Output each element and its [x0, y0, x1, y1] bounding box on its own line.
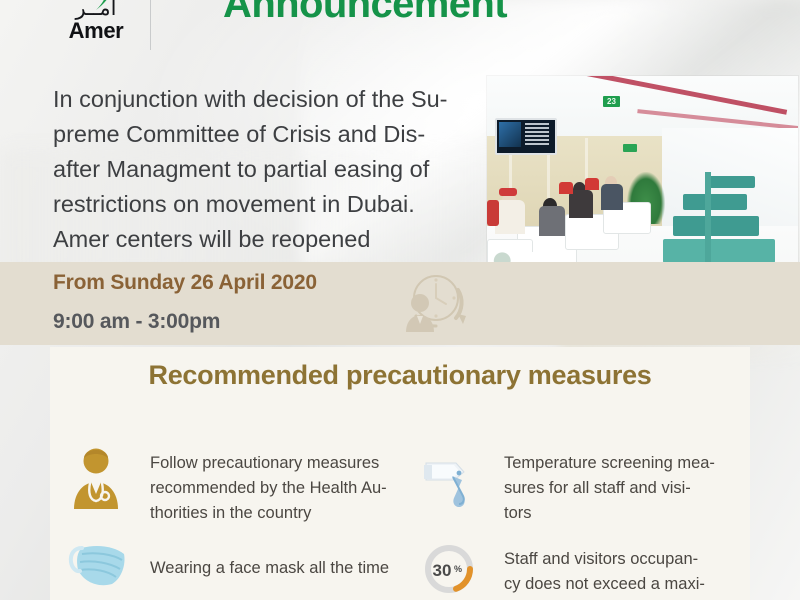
intro-line: In conjunction with decision of the Su- [53, 82, 483, 117]
photo-person-body [601, 184, 623, 210]
measure-line: Staff and visitors occupan- [504, 547, 705, 572]
measure-item: Wearing a face mask all the time [72, 542, 412, 600]
photo-person-body [569, 190, 593, 218]
photo-person-headwear [499, 188, 517, 196]
photo-desk [709, 176, 755, 188]
photo-desk-divider [705, 172, 711, 264]
measure-line: thorities in the country [150, 501, 387, 526]
poster-header: آمــر Amer Announcement [0, 0, 800, 62]
photo-person-body [539, 206, 565, 236]
page-title: Announcement [150, 0, 580, 24]
photo-exit-sign [623, 144, 637, 152]
schedule-date: From Sunday 26 April 2020 [53, 271, 317, 295]
photo-counter-sign: 23 [603, 96, 620, 107]
measure-line: Temperature screening mea- [504, 451, 715, 476]
occupancy-gauge-icon: 30 % [420, 542, 482, 600]
precautionary-measures-panel: Recommended precautionary measures Follo… [50, 347, 750, 600]
amer-logo-arabic: آمــر [48, 0, 144, 19]
photo-person-body [495, 200, 525, 234]
measure-line: cy does not exceed a maxi- [504, 572, 705, 597]
amer-logo: آمــر Amer [48, 0, 144, 54]
photo-red-chair [585, 178, 599, 190]
measure-line: Follow precautionary measures [150, 451, 387, 476]
schedule-hours: 9:00 am - 3:00pm [53, 310, 220, 334]
measure-line: sures for all staff and visi- [504, 476, 715, 501]
photo-desk [663, 239, 775, 263]
announcement-poster: آمــر Amer Announcement In conjunction w… [0, 0, 800, 600]
measure-item: Follow precautionary measures recommende… [72, 447, 412, 542]
face-mask-icon [68, 540, 130, 592]
measure-text: Staff and visitors occupan- cy does not … [504, 547, 705, 597]
photo-display-image [499, 122, 521, 147]
measure-line: recommended by the Health Au- [150, 476, 387, 501]
occupancy-unit: % [454, 564, 462, 574]
photo-desk [683, 194, 747, 210]
photo-desk [673, 216, 759, 236]
intro-line: after Managment to partial easing of [53, 152, 483, 187]
measure-item: 30 % Staff and visitors occupan- cy does… [420, 542, 750, 600]
photo-display-text [525, 123, 549, 146]
measure-text: Follow precautionary measures recommende… [150, 451, 387, 526]
measure-item: Temperature screening mea- sures for all… [420, 447, 750, 542]
person-with-clock-icon [400, 270, 470, 334]
amer-logo-latin: Amer [48, 20, 144, 42]
measure-text: Temperature screening mea- sures for all… [504, 451, 715, 526]
doctor-stethoscope-icon [72, 447, 120, 509]
measure-line: tors [504, 501, 715, 526]
intro-line: restrictions on movement in Dubai. [53, 187, 483, 222]
measure-text: Wearing a face mask all the time [150, 556, 389, 581]
announcement-body-text: In conjunction with decision of the Su- … [53, 82, 483, 257]
photo-red-chair [487, 200, 499, 226]
intro-line: Amer centers will be reopened [53, 222, 483, 257]
measure-line: Wearing a face mask all the time [150, 556, 389, 581]
measures-title: Recommended precautionary measures [50, 360, 750, 391]
intro-line: preme Committee of Crisis and Dis- [53, 117, 483, 152]
infrared-thermometer-icon [422, 451, 484, 509]
photo-red-chair [559, 182, 573, 194]
occupancy-value: 30 [433, 561, 452, 580]
